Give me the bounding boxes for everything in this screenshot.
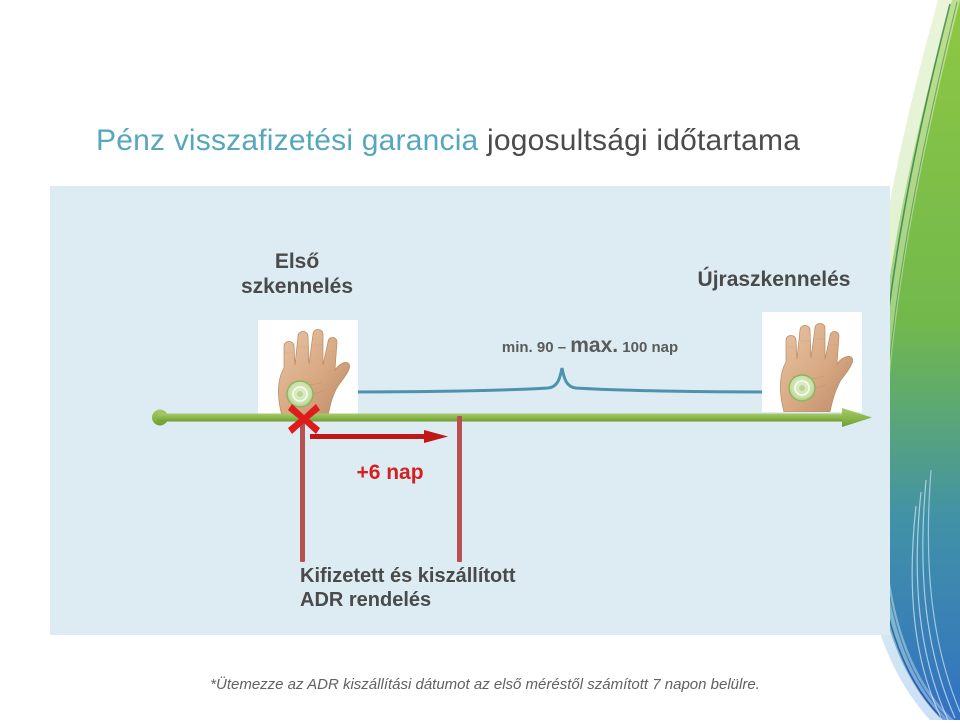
teal-curly-brace-icon — [350, 362, 774, 394]
adr-order-marker-line — [457, 416, 462, 562]
offset-days-label: +6 nap — [330, 461, 450, 485]
green-right-arrow-icon — [150, 404, 876, 432]
timeline-arrow — [150, 404, 876, 432]
first-scan-label: Első szkennelés — [222, 250, 372, 300]
duration-caption: min. 90 – max. 100 nap — [420, 334, 760, 358]
footnote: *Ütemezze az ADR kiszállítási dátumot az… — [120, 676, 850, 693]
first-scan-label-line1: Első — [222, 250, 372, 275]
offset-arrow — [310, 427, 450, 447]
adr-order-label: Kifizetett és kiszállított ADR rendelés — [300, 565, 630, 612]
rescan-label: Újraszkennelés — [668, 268, 880, 293]
adr-order-label-line2: ADR rendelés — [300, 589, 630, 613]
page-title-rest: jogosultsági időtartama — [478, 124, 800, 157]
duration-emphasis: max. — [570, 334, 618, 357]
duration-prefix: min. 90 – — [502, 339, 570, 356]
page-title-accent: Pénz visszafizetési garancia — [96, 124, 478, 157]
red-right-arrow-icon — [310, 427, 450, 447]
first-scan-label-line2: szkennelés — [222, 275, 372, 300]
rescan-hand-image — [762, 312, 862, 412]
duration-brace — [350, 362, 774, 394]
adr-order-label-line1: Kifizetett és kiszállított — [300, 565, 630, 589]
page-title: Pénz visszafizetési garancia jogosultság… — [96, 124, 800, 158]
palm-scan-icon — [762, 312, 862, 412]
first-scan-marker-line — [300, 416, 305, 562]
duration-suffix: 100 nap — [618, 339, 678, 356]
